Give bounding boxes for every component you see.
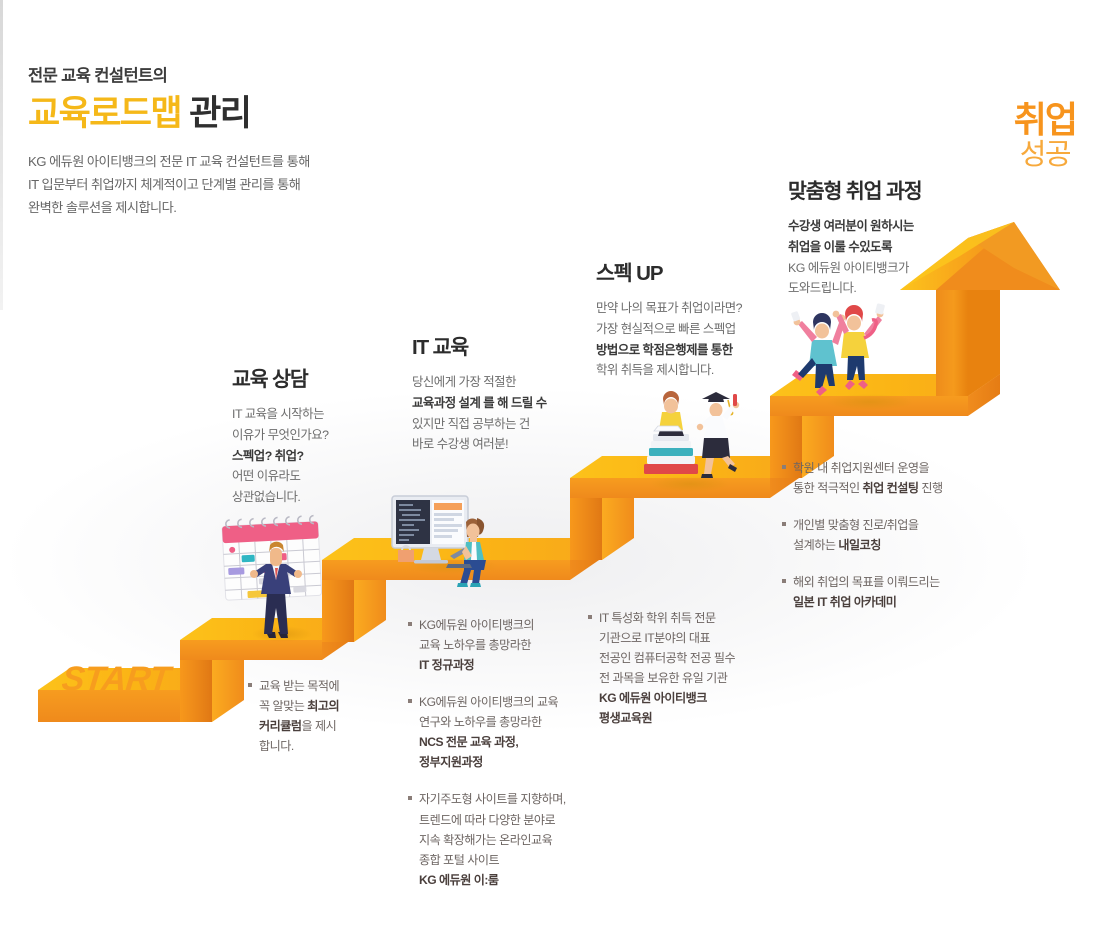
step-1-title: 교육 상담 [232, 362, 422, 392]
step-1-description: IT 교육을 시작하는 이유가 무엇인가요? 스펙업? 취업? 어떤 이유라도 … [232, 404, 422, 508]
step-3-bullet-1-line-5: KG 에듀원 아이티뱅크 [599, 691, 707, 705]
step-3-bullet-1-line-1: IT 특성화 학위 취득 전문 [599, 611, 716, 625]
step-4-desc-line-3: KG 에듀원 아이티뱅크가 [788, 261, 909, 275]
woman-laptop-monitor-illustration [388, 494, 518, 592]
step-4-bullet-1-line-2: 통한 적극적인 취업 컨설팅 진행 [793, 481, 943, 495]
step-2-bullet-1-line-1: KG에듀원 아이티뱅크의 [419, 618, 534, 632]
goal-line-1: 취업 [1014, 102, 1076, 138]
step-3-desc-line-1: 만약 나의 목표가 취업이라면? [596, 301, 742, 315]
jumping-person-left [791, 311, 846, 396]
list-item: IT 특성화 학위 취득 전문 기관으로 IT분야의 대표 전공인 컴퓨터공학 … [588, 608, 778, 728]
step-2-description: 당신에게 가장 적절한 교육과정 설계 를 해 드릴 수 있지만 직접 공부하는… [412, 372, 622, 455]
step-2-bullet-1-line-3: IT 정규과정 [419, 658, 474, 672]
step-3-bullet-1-line-6: 평생교육원 [599, 711, 652, 725]
list-item: KG에듀원 아이티뱅크의 교육 연구와 노하우를 총망라한 NCS 전문 교육 … [408, 692, 598, 772]
step-2-desc-line-1: 당신에게 가장 적절한 [412, 375, 516, 389]
step-2-desc-line-3: 있지만 직접 공부하는 건 [412, 417, 530, 431]
step-1-desc-line-3: 스펙업? 취업? [232, 449, 304, 463]
seated-reader-figure [654, 391, 684, 436]
step-2-bullet-3-line-3: 지속 확장해가는 온라인교육 [419, 833, 552, 847]
step-2-bullet-1-line-2: 교육 노하우를 총망라한 [419, 638, 531, 652]
step-2-desc-line-4: 바로 수강생 여러분! [412, 437, 508, 451]
step-1-bullet-1-line-3: 커리큘럼을 제시 [259, 719, 336, 733]
step-4-desc-line-1: 수강생 여러분이 원하시는 [788, 219, 914, 233]
list-item: 학원 내 취업지원센터 운영을 통한 적극적인 취업 컨설팅 진행 [782, 458, 1012, 498]
step-2-bullet-3-line-1: 자기주도형 사이트를 지향하며, [419, 792, 566, 806]
step-4-title: 맞춤형 취업 과정 [788, 174, 1018, 204]
step-2-title: IT 교육 [412, 330, 622, 360]
step-3-desc-line-2: 가장 현실적으로 빠른 스펙업 [596, 322, 736, 336]
step-4-bullet-3-line-1: 해외 취업의 목표를 이뤄드리는 [793, 575, 940, 589]
step-1-bullets: 교육 받는 목적에 꼭 알맞는 최고의 커리큘럼을 제시 합니다. [248, 676, 368, 756]
step-2-bullet-2-line-1: KG에듀원 아이티뱅크의 교육 [419, 695, 558, 709]
step-3-bullet-1-line-4: 전 과목을 보유한 유일 기관 [599, 671, 727, 685]
step-3-bullets: IT 특성화 학위 취득 전문 기관으로 IT분야의 대표 전공인 컴퓨터공학 … [588, 608, 778, 728]
step-2-bullet-2-line-4: 정부지원과정 [419, 755, 483, 769]
list-item: 해외 취업의 목표를 이뤄드리는 일본 IT 취업 아카데미 [782, 572, 1012, 612]
step-2-bullet-2-line-2: 연구와 노하우를 총망라한 [419, 715, 542, 729]
step-2-header: IT 교육 당신에게 가장 적절한 교육과정 설계 를 해 드릴 수 있지만 직… [412, 330, 622, 455]
list-item: 개인별 맞춤형 진로/취업을 설계하는 내일코칭 [782, 515, 1012, 555]
step-2-bullet-3-line-5: KG 에듀원 이:룸 [419, 873, 499, 887]
step-1-bullet-1-line-2: 꼭 알맞는 최고의 [259, 699, 339, 713]
step-4-bullet-2-line-2: 설계하는 내일코칭 [793, 538, 881, 552]
step-2-bullet-2-line-3: NCS 전문 교육 과정, [419, 735, 518, 749]
step-3-desc-line-3: 방법으로 학점은행제를 통한 [596, 343, 733, 357]
step-4-bullet-1-line-1: 학원 내 취업지원센터 운영을 [793, 461, 929, 475]
businessman-calendar-illustration [206, 512, 336, 640]
step-4-desc-line-2: 취업을 이룰 수있도록 [788, 240, 892, 254]
step-4-desc-line-4: 도와드립니다. [788, 281, 856, 295]
two-jumping-people-illustration [778, 298, 896, 406]
step-2-bullets: KG에듀원 아이티뱅크의 교육 노하우를 총망라한 IT 정규과정 KG에듀원 … [408, 615, 598, 890]
step-4-header: 맞춤형 취업 과정 수강생 여러분이 원하시는 취업을 이룰 수있도록 KG 에… [788, 174, 1018, 299]
step-2-desc-line-2: 교육과정 설계 를 해 드릴 수 [412, 396, 547, 410]
step-3-bullet-1-line-2: 기관으로 IT분야의 대표 [599, 631, 710, 645]
step-4-bullets: 학원 내 취업지원센터 운영을 통한 적극적인 취업 컨설팅 진행 개인별 맞춤… [782, 458, 1012, 612]
step-1-bullet-1-line-1: 교육 받는 목적에 [259, 679, 339, 693]
goal-line-2: 성공 [1014, 141, 1076, 170]
step-2-bullet-3-line-2: 트렌드에 따라 다양한 분야로 [419, 813, 555, 827]
step-1-bullet-1-line-4: 합니다. [259, 739, 294, 753]
book-stack [644, 434, 698, 474]
jumping-person-right [833, 303, 885, 390]
step-4-bullet-3-line-2: 일본 IT 취업 아카데미 [793, 595, 896, 609]
start-label: START [60, 660, 172, 699]
graduate-books-illustration [640, 386, 750, 482]
step-1-desc-line-4: 어떤 이유라도 [232, 469, 300, 483]
roadmap-infographic: 전문 교육 컨설턴트의 교육로드맵 관리 KG 에듀원 아이티뱅크의 전문 IT… [0, 0, 1100, 925]
step-4-bullet-2-line-1: 개인별 맞춤형 진로/취업을 [793, 518, 918, 532]
step-1-header: 교육 상담 IT 교육을 시작하는 이유가 무엇인가요? 스펙업? 취업? 어떤… [232, 362, 422, 508]
step-1-desc-line-1: IT 교육을 시작하는 [232, 407, 324, 421]
graduate-figure [697, 392, 739, 478]
goal-label: 취업 성공 [1014, 102, 1076, 170]
step-3-desc-line-4: 학위 취득을 제시합니다. [596, 363, 714, 377]
step-4-description: 수강생 여러분이 원하시는 취업을 이룰 수있도록 KG 에듀원 아이티뱅크가 … [788, 216, 1018, 299]
list-item: 자기주도형 사이트를 지향하며, 트렌드에 따라 다양한 분야로 지속 확장해가… [408, 789, 598, 889]
step-1-desc-line-2: 이유가 무엇인가요? [232, 428, 329, 442]
step-3-bullet-1-line-3: 전공인 컴퓨터공학 전공 필수 [599, 651, 735, 665]
list-item: KG에듀원 아이티뱅크의 교육 노하우를 총망라한 IT 정규과정 [408, 615, 598, 675]
list-item: 교육 받는 목적에 꼭 알맞는 최고의 커리큘럼을 제시 합니다. [248, 676, 368, 756]
step-1-desc-line-5: 상관없습니다. [232, 490, 300, 504]
step-2-bullet-3-line-4: 종합 포털 사이트 [419, 853, 499, 867]
